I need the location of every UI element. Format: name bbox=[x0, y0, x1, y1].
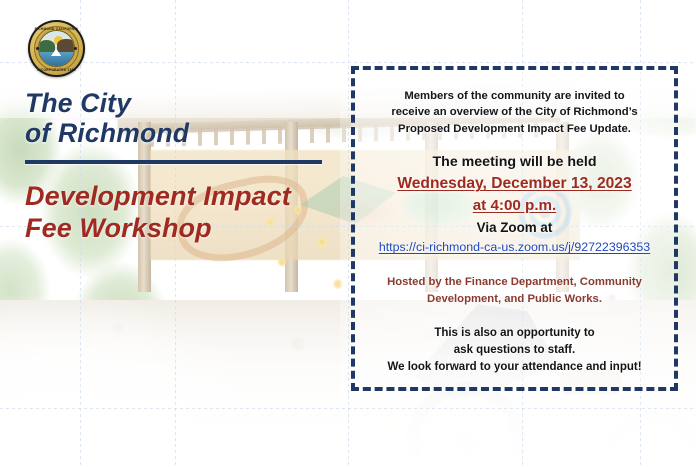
seal-hill-left bbox=[38, 40, 55, 52]
closing-text: This is also an opportunity to ask quest… bbox=[369, 325, 660, 375]
seal-text-top: RICHMOND CALIFORNIA bbox=[28, 27, 85, 31]
event-details-content: Members of the community are invited to … bbox=[355, 70, 674, 387]
city-name-line-2: of Richmond bbox=[25, 118, 335, 148]
intro-line-3: Proposed Development Impact Fee Update. bbox=[369, 121, 660, 137]
closing-line-2: ask questions to staff. bbox=[369, 342, 660, 359]
via-zoom-label: Via Zoom at bbox=[369, 220, 660, 235]
headline-divider-rule bbox=[25, 160, 322, 164]
zoom-meeting-link[interactable]: https://ci-richmond-ca-us.zoom.us/j/9272… bbox=[369, 240, 660, 254]
intro-paragraph: Members of the community are invited to … bbox=[369, 88, 660, 137]
intro-line-1: Members of the community are invited to bbox=[369, 88, 660, 104]
meeting-time: at 4:00 p.m. bbox=[369, 197, 660, 214]
flyer-canvas: RICHMOND CALIFORNIA INCORPORATED 1905 Th… bbox=[0, 0, 696, 467]
workshop-title-line-1: Development Impact bbox=[25, 181, 335, 212]
guide-line-horizontal bbox=[0, 408, 696, 409]
meeting-date: Wednesday, December 13, 2023 bbox=[369, 175, 660, 193]
hosted-line-2: Development, and Public Works. bbox=[369, 291, 660, 307]
guide-line-horizontal bbox=[0, 62, 696, 63]
seal-bullet-dot bbox=[36, 47, 39, 50]
workshop-title-line-2: Fee Workshop bbox=[25, 213, 335, 244]
seal-hill-right bbox=[57, 39, 75, 52]
intro-line-2: receive an overview of the City of Richm… bbox=[369, 104, 660, 120]
closing-line-1: This is also an opportunity to bbox=[369, 325, 660, 342]
seal-bullet-dot bbox=[74, 47, 77, 50]
city-seal-logo: RICHMOND CALIFORNIA INCORPORATED 1905 bbox=[28, 20, 85, 77]
city-name-line-1: The City bbox=[25, 88, 335, 118]
hosted-by-text: Hosted by the Finance Department, Commun… bbox=[369, 274, 660, 307]
guide-line-vertical bbox=[348, 0, 349, 467]
seal-emblem-scene bbox=[38, 30, 75, 67]
closing-line-3: We look forward to your attendance and i… bbox=[369, 359, 660, 376]
meeting-held-label: The meeting will be held bbox=[369, 154, 660, 170]
hosted-line-1: Hosted by the Finance Department, Commun… bbox=[369, 274, 660, 290]
headline-block: The City of Richmond Development Impact … bbox=[25, 88, 335, 244]
event-details-panel: Members of the community are invited to … bbox=[351, 66, 678, 391]
seal-text-bottom: INCORPORATED 1905 bbox=[28, 68, 85, 72]
